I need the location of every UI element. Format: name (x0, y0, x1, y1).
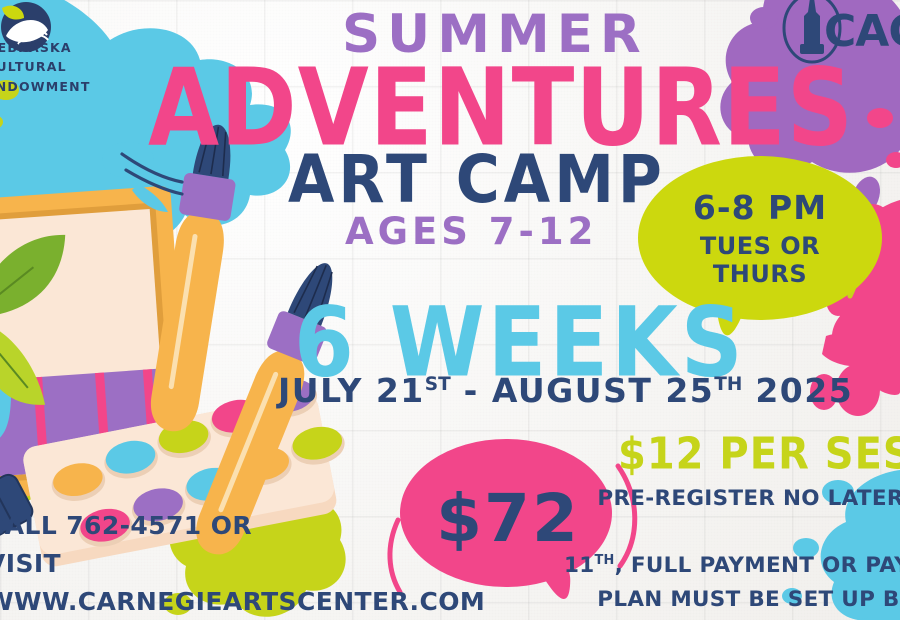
registration-note: PRE-REGISTER NO LATER THAN JULY 11TH, FU… (560, 482, 900, 620)
date-ordinal-2: TH (714, 374, 742, 395)
schedule-days: TUES OR THURS (660, 232, 860, 288)
contact-block: CALL 762-4571 OR VISIT WWW.CARNEGIEARTSC… (0, 507, 316, 620)
note-line-2-prefix: 11 (564, 553, 595, 578)
contact-phone: CALL 762-4571 OR VISIT (0, 507, 316, 583)
nce-line-1: NEBRASKA (0, 38, 91, 57)
note-line-4: REGISTRATION (560, 616, 900, 620)
date-middle: - AUGUST 25 (451, 371, 715, 410)
note-line-2: 11TH, FULL PAYMENT OR PAYMENT (560, 549, 900, 583)
note-line-3: PLAN MUST BE SET UP BEFORE (560, 583, 900, 617)
subtitle-art-camp: ART CAMP (288, 147, 666, 213)
note-line-1: PRE-REGISTER NO LATER THAN JULY (560, 482, 900, 549)
poster-canvas: NEBRASKA CULTURAL ENDOWMENT CAC SUMMER A… (0, 0, 900, 620)
nce-line-2: CULTURAL (0, 57, 91, 76)
note-line-2-ordinal: TH (594, 553, 614, 568)
schedule-time: 6-8 PM (660, 188, 860, 227)
date-suffix: 2025 (742, 371, 853, 410)
nce-line-3: ENDOWMENT (0, 77, 91, 96)
ages-label: AGES 7-12 (345, 213, 597, 250)
date-range: JULY 21ST - AUGUST 25TH 2025 (278, 374, 853, 407)
price-per-session: $12 PER SESSION (618, 432, 900, 476)
date-ordinal-1: ST (425, 374, 451, 395)
schedule-bubble-text: 6-8 PM TUES OR THURS (660, 188, 860, 288)
note-line-2-rest: , FULL PAYMENT OR PAYMENT (615, 553, 900, 578)
date-prefix: JULY 21 (278, 371, 425, 410)
contact-website: WWW.CARNEGIEARTSCENTER.COM (0, 583, 316, 620)
nebraska-cultural-endowment-logo-text: NEBRASKA CULTURAL ENDOWMENT (0, 38, 91, 96)
